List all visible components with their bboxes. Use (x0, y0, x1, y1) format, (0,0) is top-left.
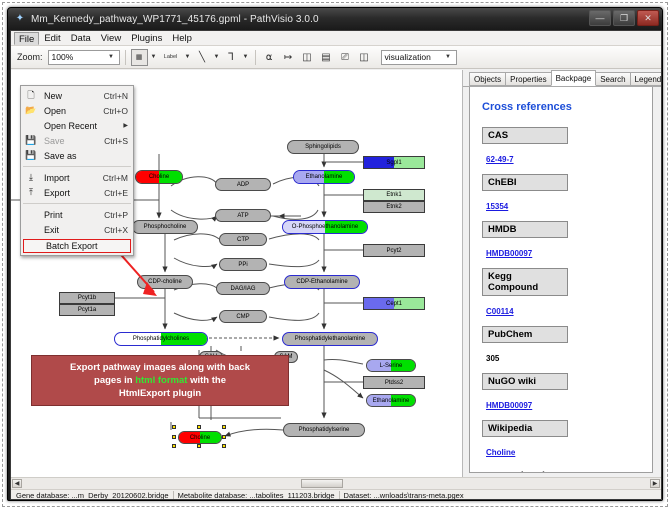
zoom-label: Zoom: (17, 52, 43, 62)
file-menu-item-accelerator: Ctrl+E (104, 188, 133, 198)
align-left-button[interactable]: ↦ (280, 49, 297, 66)
pathway-metabolite-node[interactable]: Phosphatidylethanolamine (282, 332, 378, 346)
file-menu-item-accelerator: Ctrl+N (104, 91, 133, 101)
tab-legend[interactable]: Legend (630, 72, 661, 86)
node-label: Phosphatidylserine (297, 427, 352, 433)
pathway-gene-node[interactable]: Cept1 (363, 297, 425, 310)
interaction-button[interactable]: ⅂ (223, 49, 240, 66)
group-button[interactable]: ⎚ (337, 49, 354, 66)
pathway-metabolite-node[interactable]: CTP (219, 233, 267, 246)
cross-reference-value-row: HMDB00097 (482, 395, 642, 420)
file-menu-item-label: Open (44, 106, 103, 116)
order-button[interactable]: ◫ (356, 49, 373, 66)
status-metabolite-database: Metabolite database: ...tabolites_111203… (173, 491, 339, 500)
node-label: CDP-Ethanolamine (294, 279, 349, 285)
node-label: DAG/IAG (228, 286, 257, 292)
annotation-line-2a: pages in (94, 375, 135, 386)
align-top-button[interactable]: ⍺ (261, 49, 278, 66)
selection-handle[interactable] (197, 425, 201, 429)
cross-reference-value-row: Choline (482, 442, 642, 467)
file-menu-item-accelerator: Ctrl+P (104, 210, 133, 220)
visualization-combobox[interactable]: visualization ▼ (381, 50, 457, 65)
tab-objects[interactable]: Objects (469, 72, 506, 86)
pathway-metabolite-node[interactable]: L-Serine (366, 359, 416, 372)
export-icon: ⤒ (23, 186, 39, 199)
node-label: Ptdss2 (383, 380, 405, 386)
file-menu-item-export[interactable]: ⤒ExportCtrl+E (21, 185, 133, 200)
maximize-button[interactable]: ❐ (613, 10, 635, 26)
node-label: Pcyt2 (384, 248, 403, 254)
annotation-line-2: pages in html format with the (38, 374, 282, 387)
file-menu-item-label: Exit (44, 225, 104, 235)
node-label: PPi (236, 262, 249, 268)
cross-reference-value-row: 62-49-7 (482, 149, 642, 174)
status-gene-database: Gene database: ...m_Derby_20120602.bridg… (13, 491, 173, 500)
file-menu-item-label: New (44, 91, 104, 101)
file-menu-item-label: Batch Export (26, 241, 130, 251)
label-button[interactable]: Label (160, 49, 182, 66)
file-menu-item-label: Open Recent (44, 121, 123, 131)
tab-search[interactable]: Search (595, 72, 630, 86)
side-tab-strip: Objects Properties Backpage Search Legen… (463, 70, 661, 87)
horizontal-scrollbar[interactable]: ◀ ▶ (11, 477, 661, 489)
window-controls: — ❐ ✕ (589, 10, 659, 26)
pathway-metabolite-node[interactable]: CDP-Ethanolamine (284, 275, 360, 289)
menu-item-icon-none (23, 208, 39, 221)
status-bar: Gene database: ...m_Derby_20120602.bridg… (11, 489, 661, 500)
selection-handle[interactable] (197, 444, 201, 448)
node-label: Phosphocholine (142, 224, 189, 230)
cross-reference-link[interactable]: C00114 (486, 307, 514, 316)
datanode-button[interactable]: ▦ (131, 49, 148, 66)
annotation-callout: Export pathway images along with back pa… (31, 355, 289, 406)
datanode-dropdown-icon[interactable]: ▼ (150, 54, 158, 60)
backpage-title: Cross references (482, 101, 642, 113)
file-menu-item-new[interactable]: 🗋NewCtrl+N (21, 88, 133, 103)
node-label: Ethanolamine (304, 174, 345, 180)
file-menu-item-accelerator: Ctrl+X (104, 225, 133, 235)
cross-reference-value-row: HMDB00097 (482, 243, 642, 268)
label-dropdown-icon[interactable]: ▼ (184, 54, 192, 60)
file-menu-item-label: Save as (44, 151, 133, 161)
window-title: Mm_Kennedy_pathway_WP1771_45176.gpml - P… (31, 14, 319, 25)
file-menu-item-save-as[interactable]: 💾Save as (21, 148, 133, 163)
menu-data[interactable]: Data (66, 32, 96, 45)
file-menu-item-label: Save (44, 136, 104, 146)
pathvisio-icon: ✦ (14, 13, 26, 25)
pathway-gene-node[interactable]: Pcyt2 (363, 244, 425, 257)
selection-handle[interactable] (222, 435, 226, 439)
scrollbar-thumb[interactable] (301, 479, 343, 488)
node-label: Pcyt1a (76, 307, 98, 313)
cross-reference-value-row: 305 (482, 348, 642, 373)
minimize-button[interactable]: — (589, 10, 611, 26)
node-label: L-Serine (378, 363, 405, 369)
title-bar: ✦ Mm_Kennedy_pathway_WP1771_45176.gpml -… (8, 8, 662, 30)
menu-separator (23, 166, 131, 167)
node-label: Pcyt1b (76, 295, 98, 301)
line-button[interactable]: ╲ (194, 49, 211, 66)
menu-item-icon-none (23, 223, 39, 236)
tab-backpage[interactable]: Backpage (551, 70, 597, 86)
selection-handle[interactable] (172, 425, 176, 429)
toolbar-separator-2 (255, 50, 256, 65)
expression-data-heading: Expression data (482, 471, 642, 473)
file-menu-item-label: Import (44, 173, 103, 183)
save-disk-icon: 💾 (23, 134, 39, 147)
zoom-value: 100% (52, 52, 74, 62)
cross-reference-link[interactable]: Choline (486, 448, 515, 457)
file-menu-item-label: Export (44, 188, 104, 198)
cross-reference-heading: NuGO wiki (482, 373, 568, 390)
file-menu-item-open[interactable]: 📂OpenCtrl+O (21, 103, 133, 118)
menu-edit[interactable]: Edit (39, 32, 65, 45)
pathway-metabolite-node[interactable]: ADP (215, 178, 271, 191)
pathway-metabolite-node[interactable]: O-Phosphoethanolamine (282, 220, 368, 234)
file-menu-item-label: Print (44, 210, 104, 220)
file-menu-item-accelerator: Ctrl+S (104, 136, 133, 146)
node-label: Sphingolipids (303, 144, 343, 150)
file-menu-item-batch-export[interactable]: Batch Export (23, 239, 131, 253)
menu-plugins[interactable]: Plugins (126, 32, 167, 45)
close-button[interactable]: ✕ (637, 10, 659, 26)
cross-reference-value-row: 15354 (482, 196, 642, 221)
menu-bar: File Edit Data View Plugins Help (11, 31, 661, 46)
scroll-left-arrow-icon[interactable]: ◀ (12, 479, 22, 488)
node-label: CDP-choline (146, 279, 184, 285)
zoom-combobox[interactable]: 100% ▼ (48, 50, 120, 65)
node-label: Sgpl1 (384, 160, 403, 166)
annotation-line-3: HtmlExport plugin (38, 387, 282, 400)
open-folder-icon: 📂 (23, 104, 39, 117)
node-label: Etnk1 (384, 192, 403, 198)
file-menu-popup[interactable]: 🗋NewCtrl+N📂OpenCtrl+OOpen Recent▶💾SaveCt… (20, 85, 134, 256)
node-label: Ethanolamine (371, 398, 412, 404)
import-icon: ⤓ (23, 171, 39, 184)
visualization-value: visualization (385, 52, 431, 62)
cross-reference-link[interactable]: HMDB00097 (486, 249, 532, 258)
selection-handle[interactable] (172, 444, 176, 448)
pathway-metabolite-node[interactable]: ATP (215, 209, 271, 222)
node-label: Cept1 (384, 301, 404, 307)
pathway-metabolite-node[interactable]: Phosphocholine (132, 220, 198, 234)
pathway-gene-node[interactable]: Sgpl1 (363, 156, 425, 169)
interaction-dropdown-icon[interactable]: ▼ (242, 54, 250, 60)
menu-separator (23, 203, 131, 204)
cross-reference-heading: Wikipedia (482, 420, 568, 437)
node-label: CMP (234, 314, 251, 320)
node-label: Choline (188, 435, 212, 441)
node-label: Phosphatidylcholines (131, 336, 191, 342)
cross-reference-link[interactable]: 15354 (486, 202, 508, 211)
pathway-metabolite-node[interactable]: Ethanolamine (293, 170, 355, 184)
cross-reference-heading: ChEBI (482, 174, 568, 191)
tab-properties[interactable]: Properties (505, 72, 551, 86)
toolbar-separator (125, 50, 126, 65)
node-label: Phosphatidylethanolamine (293, 336, 367, 342)
file-menu-item-accelerator: Ctrl+M (103, 173, 133, 183)
submenu-arrow-icon: ▶ (123, 122, 133, 129)
pathway-metabolite-node[interactable]: Sphingolipids (287, 140, 359, 154)
pathway-metabolite-node[interactable]: Ethanolamine (366, 394, 416, 407)
tool-bar: Zoom: 100% ▼ ▦ ▼ Label ▼ ╲ ▼ ⅂ ▼ ⍺ ↦ ◫ ▤ (11, 46, 661, 69)
cross-reference-heading: HMDB (482, 221, 568, 238)
stack-button[interactable]: ◫ (299, 49, 316, 66)
file-menu-item-accelerator: Ctrl+O (103, 106, 133, 116)
annotation-line-1: Export pathway images along with back (38, 361, 282, 374)
new-file-icon: 🗋 (23, 89, 39, 102)
pathway-metabolite-node[interactable]: Choline (135, 170, 183, 184)
pathway-metabolite-node[interactable]: Phosphatidylserine (283, 423, 365, 437)
annotation-line-2b: with the (187, 375, 226, 386)
selection-handle[interactable] (222, 425, 226, 429)
pathway-gene-node[interactable]: Pcyt1b (59, 292, 115, 304)
distribute-button[interactable]: ▤ (318, 49, 335, 66)
menu-item-icon-none (23, 119, 39, 132)
scroll-right-arrow-icon[interactable]: ▶ (650, 479, 660, 488)
pathway-metabolite-node[interactable]: CMP (219, 310, 267, 323)
pathway-metabolite-node[interactable]: PPi (219, 258, 267, 271)
file-menu-item-import[interactable]: ⤓ImportCtrl+M (21, 170, 133, 185)
selection-handle[interactable] (172, 435, 176, 439)
chevron-down-icon: ▼ (106, 51, 117, 64)
cross-reference-value: 305 (486, 354, 499, 363)
backpage-content: Cross references CAS62-49-7ChEBI15354HMD… (469, 87, 653, 473)
save-as-icon: 💾 (23, 149, 39, 162)
node-label: Etnk2 (384, 204, 403, 210)
status-dataset: Dataset: ...wnloads\trans-meta.pgex (339, 491, 468, 500)
application-window: ✦ Mm_Kennedy_pathway_WP1771_45176.gpml -… (7, 7, 663, 501)
side-panel: Objects Properties Backpage Search Legen… (463, 70, 661, 477)
line-dropdown-icon[interactable]: ▼ (213, 54, 221, 60)
menu-help[interactable]: Help (167, 32, 197, 45)
menu-file[interactable]: File (14, 32, 39, 45)
node-label: ATP (235, 213, 250, 219)
pathway-gene-node[interactable]: Pcyt1a (59, 304, 115, 316)
node-label: CTP (235, 237, 251, 243)
node-label: Choline (147, 174, 171, 180)
node-label: O-Phosphoethanolamine (290, 224, 360, 230)
pathway-gene-node[interactable]: Etnk1 (363, 189, 425, 201)
pathway-gene-node[interactable]: Etnk2 (363, 201, 425, 213)
chevron-down-icon-2: ▼ (443, 51, 454, 64)
selection-handle[interactable] (222, 444, 226, 448)
node-label: ADP (235, 182, 251, 188)
cross-reference-link[interactable]: 62-49-7 (486, 155, 514, 164)
pathway-metabolite-node[interactable]: DAG/IAG (216, 282, 270, 295)
cross-reference-heading: CAS (482, 127, 568, 144)
file-menu-item-print[interactable]: PrintCtrl+P (21, 207, 133, 222)
menu-view[interactable]: View (96, 32, 126, 45)
cross-reference-heading: Kegg Compound (482, 268, 568, 296)
cross-reference-list: CAS62-49-7ChEBI15354HMDBHMDB00097Kegg Co… (482, 127, 642, 467)
cross-reference-value-row: C00114 (482, 301, 642, 326)
pathway-metabolite-node[interactable]: CDP-choline (137, 275, 193, 289)
client-area: File Edit Data View Plugins Help Zoom: 1… (10, 30, 662, 500)
annotation-highlight: html format (135, 375, 187, 386)
cross-reference-heading: PubChem (482, 326, 568, 343)
file-menu-item-open-recent[interactable]: Open Recent▶ (21, 118, 133, 133)
file-menu-item-save[interactable]: 💾SaveCtrl+S (21, 133, 133, 148)
pathway-metabolite-node[interactable]: Phosphatidylcholines (114, 332, 208, 346)
pathway-gene-node[interactable]: Ptdss2 (363, 376, 425, 389)
cross-reference-link[interactable]: HMDB00097 (486, 401, 532, 410)
screenshot-root: ✦ Mm_Kennedy_pathway_WP1771_45176.gpml -… (0, 0, 670, 509)
file-menu-item-exit[interactable]: ExitCtrl+X (21, 222, 133, 237)
